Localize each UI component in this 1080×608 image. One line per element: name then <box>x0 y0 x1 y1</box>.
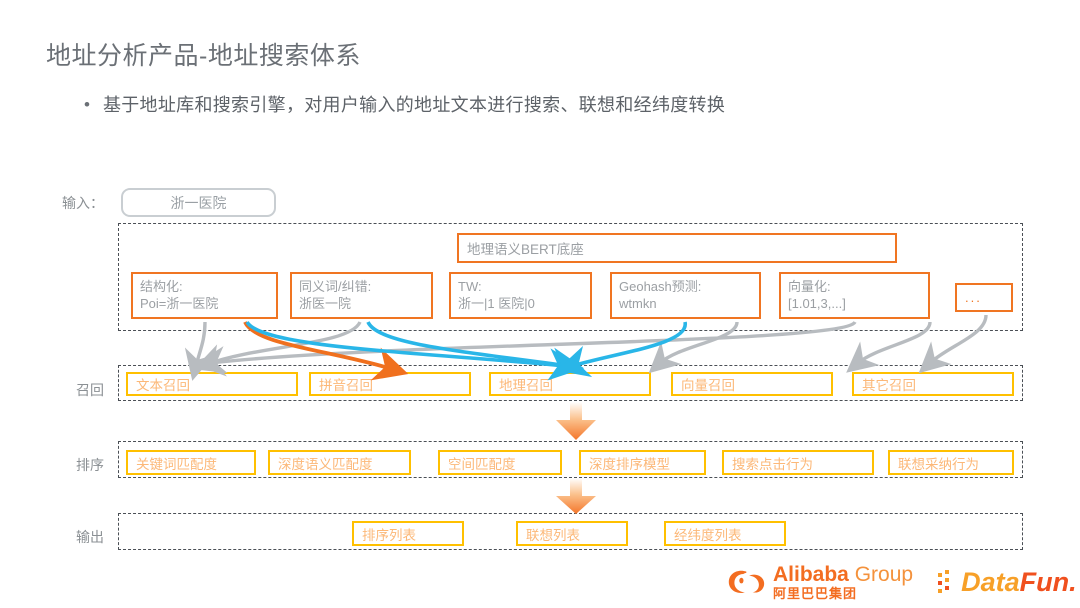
output-row-label: 输出 <box>76 527 104 547</box>
rank-item-suggest-behavior: 联想采纳行为 <box>888 450 1014 475</box>
feature-value: 浙一|1 医院|0 <box>458 296 535 311</box>
flow-arrow-recall-to-rank <box>556 402 596 440</box>
footer-logos: Alibaba Group 阿里巴巴集团 DataFun. <box>726 561 1066 603</box>
recall-item-other: 其它召回 <box>852 372 1014 396</box>
datafun-logo: DataFun. <box>937 567 1077 598</box>
feature-value: Poi=浙一医院 <box>140 296 218 311</box>
rank-item-click-behavior: 搜索点击行为 <box>722 450 874 475</box>
output-item-rank-list: 排序列表 <box>352 521 464 546</box>
datafun-fun-text: Fun. <box>1020 567 1077 598</box>
rank-row-label: 排序 <box>76 455 104 475</box>
feature-box-synonym: 同义词/纠错: 浙医一院 <box>290 272 433 319</box>
flow-arrow-rank-to-output <box>556 478 596 514</box>
feature-title: 同义词/纠错: <box>299 279 371 294</box>
rank-item-semantic: 深度语义匹配度 <box>268 450 411 475</box>
feature-value: [1.01,3,...] <box>788 296 846 311</box>
datafun-data-text: Data <box>961 567 1020 598</box>
rank-item-keyword: 关键词匹配度 <box>126 450 256 475</box>
output-item-latlng-list: 经纬度列表 <box>664 521 786 546</box>
alibaba-name-cn: 阿里巴巴集团 <box>773 587 913 600</box>
recall-item-pinyin: 拼音召回 <box>309 372 471 396</box>
feature-box-geohash: Geohash预测: wtmkn <box>610 272 761 319</box>
feature-value: 浙医一院 <box>299 296 351 311</box>
input-row-label: 输入： <box>62 193 104 213</box>
recall-item-text: 文本召回 <box>126 372 298 396</box>
feature-box-tw: TW: 浙一|1 医院|0 <box>449 272 592 319</box>
bert-base-bar: 地理语义BERT底座 <box>457 233 897 263</box>
slide-canvas: 地址分析产品-地址搜索体系 • 基于地址库和搜索引擎，对用户输入的地址文本进行搜… <box>0 0 1080 608</box>
feature-title: Geohash预测: <box>619 279 701 294</box>
feature-box-structure: 结构化: Poi=浙一医院 <box>131 272 278 319</box>
feature-box-vector: 向量化: [1.01,3,...] <box>779 272 930 319</box>
alibaba-mark-icon <box>726 567 768 597</box>
bullet-dot-icon: • <box>84 92 90 118</box>
search-input[interactable]: 浙一医院 <box>121 188 276 217</box>
bullet-text: 基于地址库和搜索引擎，对用户输入的地址文本进行搜索、联想和经纬度转换 <box>103 92 725 118</box>
recall-item-geo: 地理召回 <box>489 372 651 396</box>
output-item-suggest-list: 联想列表 <box>516 521 628 546</box>
feature-title: TW: <box>458 279 482 294</box>
feature-box-more: ... <box>955 283 1013 312</box>
rank-item-spatial: 空间匹配度 <box>438 450 562 475</box>
alibaba-logo: Alibaba Group 阿里巴巴集团 <box>726 564 913 600</box>
alibaba-name: Alibaba Group <box>773 564 913 585</box>
feature-value: wtmkn <box>619 296 657 311</box>
feature-title: 向量化: <box>788 279 831 294</box>
rank-item-deep-model: 深度排序模型 <box>579 450 706 475</box>
page-title: 地址分析产品-地址搜索体系 <box>46 36 361 72</box>
recall-row-label: 召回 <box>76 380 104 400</box>
bullet-item: • 基于地址库和搜索引擎，对用户输入的地址文本进行搜索、联想和经纬度转换 <box>84 92 725 118</box>
datafun-dots-icon <box>937 569 959 595</box>
recall-item-vector: 向量召回 <box>671 372 833 396</box>
feature-title: 结构化: <box>140 279 183 294</box>
